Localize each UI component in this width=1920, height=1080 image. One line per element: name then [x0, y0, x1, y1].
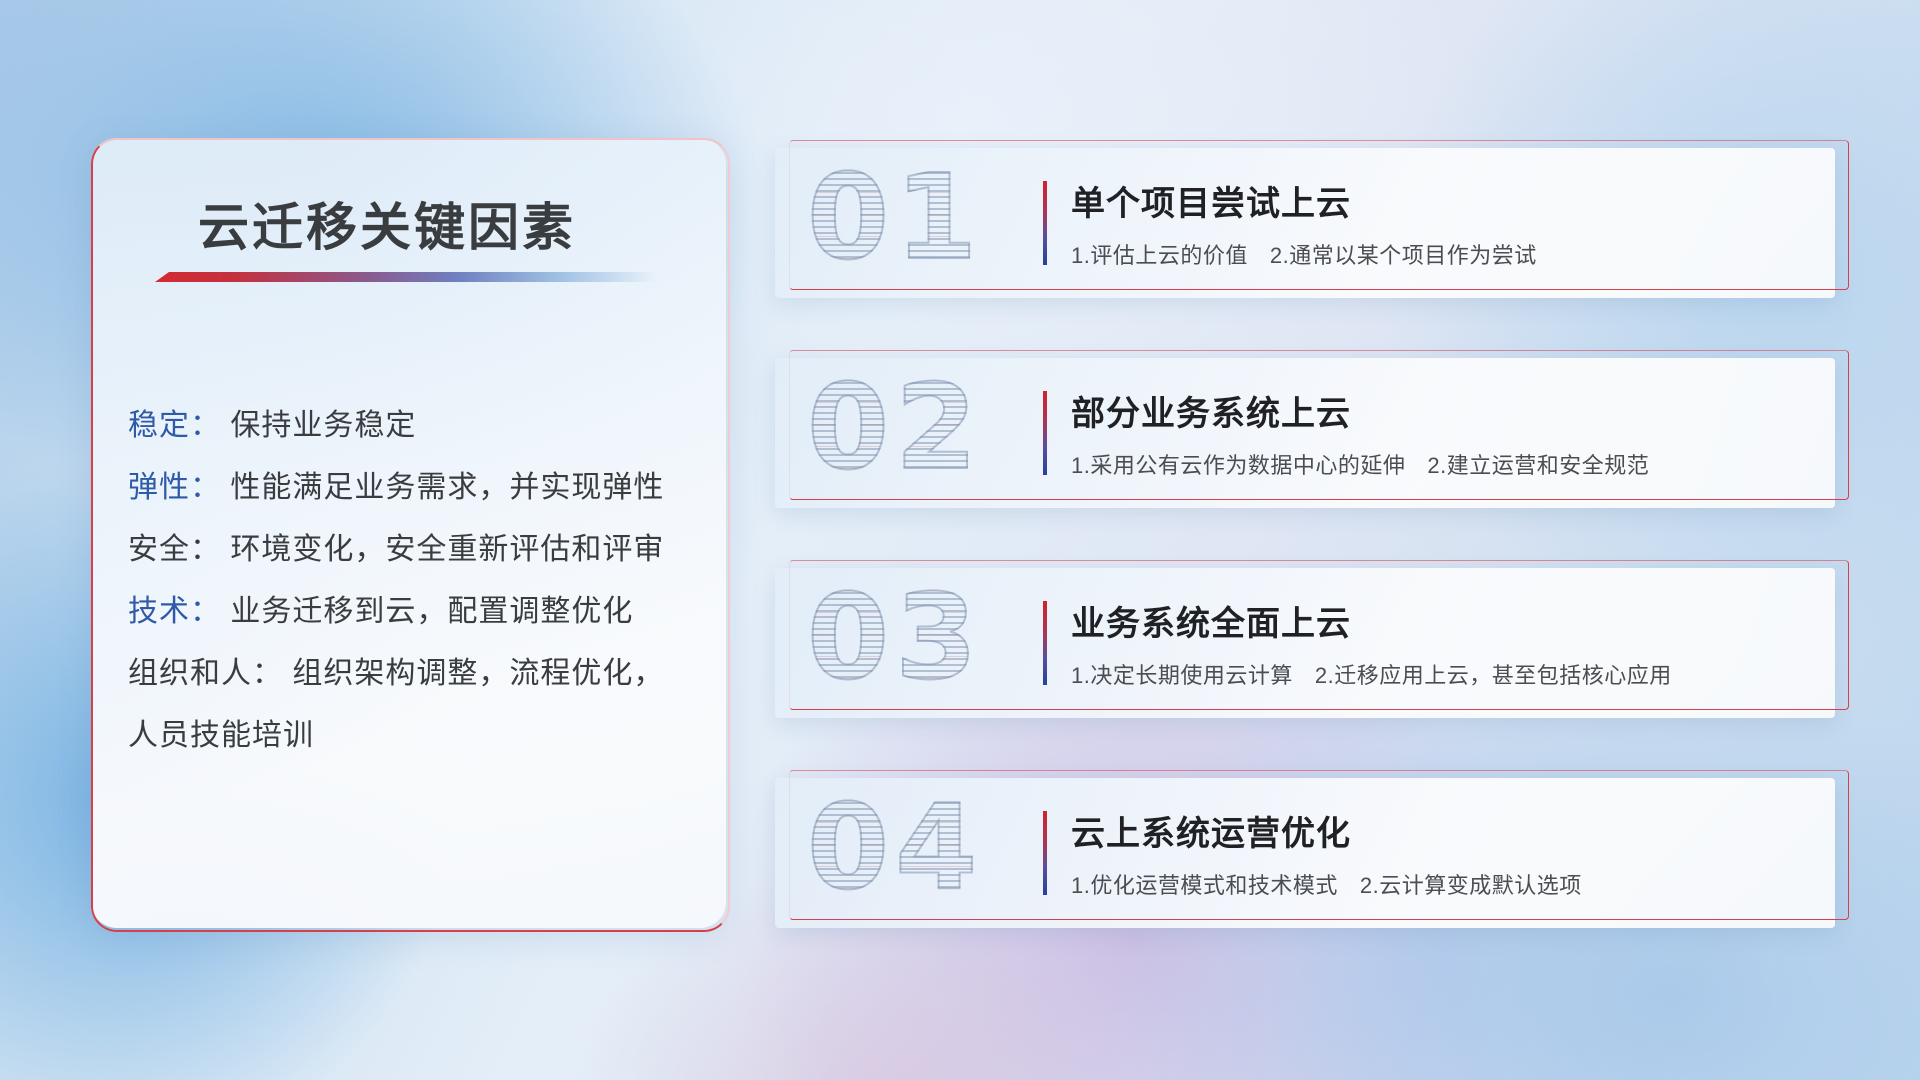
key-factor-label: 组织和人： — [128, 657, 283, 690]
stage-detail-1: 1.采用公有云作为数据中心的延伸 — [1071, 453, 1405, 478]
stage-detail: 1.采用公有云作为数据中心的延伸2.建立运营和安全规范 — [1071, 448, 1649, 480]
stage-number-glyph: 03 — [807, 574, 983, 706]
stage-number-decoration: 0404 — [807, 784, 1037, 924]
stage-number-glyph: 02 — [807, 364, 983, 496]
stage-detail: 1.优化运营模式和技术模式2.云计算变成默认选项 — [1071, 868, 1582, 900]
stage-number-glyph: 01 — [807, 154, 983, 286]
stage-detail-2: 2.通常以某个项目作为尝试 — [1270, 243, 1537, 268]
key-factor-label: 稳定： — [128, 409, 221, 442]
stage-number-glyph-red: 03 — [807, 574, 983, 706]
key-factor-item: 弹性： 性能满足业务需求，并实现弹性 — [128, 462, 664, 506]
stage-card[interactable]: 0303业务系统全面上云1.决定长期使用云计算2.迁移应用上云，甚至包括核心应用 — [775, 568, 1835, 718]
stage-card-body: 0303业务系统全面上云1.决定长期使用云计算2.迁移应用上云，甚至包括核心应用 — [775, 568, 1835, 718]
stage-number-decoration: 0101 — [807, 154, 1037, 294]
key-factor-item: 人员技能培训 — [128, 710, 314, 754]
key-factor-text: 组织架构调整，流程优化， — [292, 657, 664, 690]
key-factor-label: 弹性： — [128, 471, 221, 504]
key-factor-label: 技术： — [128, 595, 221, 628]
stage-title: 单个项目尝试上云 — [1071, 176, 1351, 225]
stage-detail: 1.决定长期使用云计算2.迁移应用上云，甚至包括核心应用 — [1071, 658, 1672, 690]
stage-number-decoration: 0202 — [807, 364, 1037, 504]
stage-accent-bar — [1043, 601, 1047, 685]
key-factor-text: 环境变化，安全重新评估和评审 — [230, 533, 664, 566]
key-factor-text: 人员技能培训 — [128, 719, 314, 752]
stage-detail-1: 1.决定长期使用云计算 — [1071, 663, 1293, 688]
stage-number-glyph-red: 01 — [807, 154, 983, 286]
stage-accent-bar — [1043, 811, 1047, 895]
key-factor-label: 安全： — [128, 533, 221, 566]
key-factor-item: 组织和人： 组织架构调整，流程优化， — [128, 648, 664, 692]
stage-card-body: 0101单个项目尝试上云1.评估上云的价值2.通常以某个项目作为尝试 — [775, 148, 1835, 298]
stage-accent-bar — [1043, 181, 1047, 265]
stage-title: 业务系统全面上云 — [1071, 596, 1351, 645]
stage-detail: 1.评估上云的价值2.通常以某个项目作为尝试 — [1071, 238, 1537, 270]
stage-title: 部分业务系统上云 — [1071, 386, 1351, 435]
stage-number-decoration: 0303 — [807, 574, 1037, 714]
stage-card[interactable]: 0101单个项目尝试上云1.评估上云的价值2.通常以某个项目作为尝试 — [775, 148, 1835, 298]
stage-card[interactable]: 0404云上系统运营优化1.优化运营模式和技术模式2.云计算变成默认选项 — [775, 778, 1835, 928]
key-factor-text: 性能满足业务需求，并实现弹性 — [230, 471, 664, 504]
stage-detail-2: 2.云计算变成默认选项 — [1360, 873, 1582, 898]
stage-card-body: 0202部分业务系统上云1.采用公有云作为数据中心的延伸2.建立运营和安全规范 — [775, 358, 1835, 508]
key-factor-text: 业务迁移到云，配置调整优化 — [230, 595, 633, 628]
key-factor-item: 安全： 环境变化，安全重新评估和评审 — [128, 524, 664, 568]
stage-detail-2: 2.迁移应用上云，甚至包括核心应用 — [1315, 663, 1672, 688]
stage-detail-1: 1.优化运营模式和技术模式 — [1071, 873, 1338, 898]
key-factor-item: 稳定： 保持业务稳定 — [128, 400, 416, 444]
stage-card[interactable]: 0202部分业务系统上云1.采用公有云作为数据中心的延伸2.建立运营和安全规范 — [775, 358, 1835, 508]
title-underline-rule — [155, 272, 658, 282]
stage-detail-2: 2.建立运营和安全规范 — [1427, 453, 1649, 478]
stage-card-body: 0404云上系统运营优化1.优化运营模式和技术模式2.云计算变成默认选项 — [775, 778, 1835, 928]
key-factor-item: 技术： 业务迁移到云，配置调整优化 — [128, 586, 633, 630]
stage-detail-1: 1.评估上云的价值 — [1071, 243, 1248, 268]
stage-accent-bar — [1043, 391, 1047, 475]
stage-number-glyph-red: 04 — [807, 784, 983, 916]
stage-number-glyph-red: 02 — [807, 364, 983, 496]
key-factor-text: 保持业务稳定 — [230, 409, 416, 442]
stage-title: 云上系统运营优化 — [1071, 806, 1351, 855]
stage-number-glyph: 04 — [807, 784, 983, 916]
page-title: 云迁移关键因素 — [198, 186, 576, 260]
